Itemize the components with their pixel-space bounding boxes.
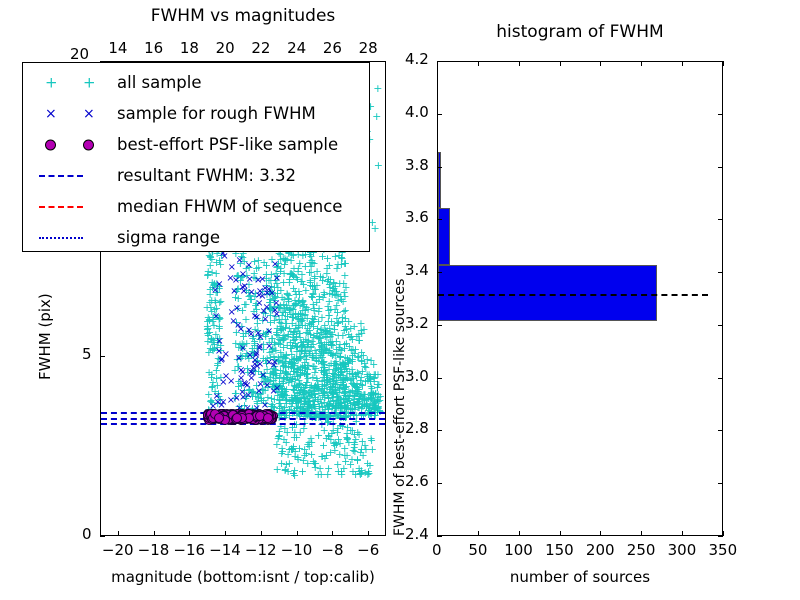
dashed-line-icon (39, 175, 83, 177)
histogram-bar (438, 152, 441, 209)
cross-marker-icon: × (45, 107, 57, 121)
axis-tick-label: 26 (323, 39, 342, 57)
axis-tick (437, 378, 442, 379)
all-sample-point: + (363, 354, 372, 365)
legend-label: median FHWM of sequence (117, 197, 342, 216)
legend-key (31, 191, 117, 222)
rough-sample-point: × (265, 342, 273, 352)
rough-sample-point: × (271, 260, 279, 270)
axis-tick-label: −20 (102, 541, 134, 559)
legend-label: all sample (117, 73, 202, 92)
axis-tick (718, 167, 723, 168)
all-sample-point: + (373, 83, 382, 94)
all-sample-point: + (310, 399, 319, 410)
axis-tick-label: −16 (173, 541, 205, 559)
right-y-axis-label: FWHM of best-effort PSF-like sources (392, 279, 408, 536)
legend-key (31, 222, 117, 253)
legend-label: best-effort PSF-like sample (117, 135, 338, 154)
rough-sample-point: × (240, 379, 248, 389)
axis-tick (682, 61, 683, 66)
axis-tick (560, 531, 561, 536)
axis-tick (297, 531, 298, 536)
axis-tick-label: 3.4 (405, 261, 429, 279)
axis-tick-label: 28 (359, 39, 378, 57)
axis-tick-label: 2.8 (405, 419, 429, 437)
all-sample-point: + (333, 318, 342, 329)
axis-tick (437, 272, 442, 273)
rough-sample-point: × (272, 310, 280, 320)
legend-label: sample for rough FWHM (117, 104, 316, 123)
all-sample-point: + (302, 302, 311, 313)
left-x-axis-label: magnitude (bottom:isnt / top:calib) (100, 568, 386, 586)
psf-sample-point (214, 413, 224, 423)
all-sample-point: + (340, 339, 349, 350)
all-sample-point: + (374, 160, 383, 171)
all-sample-point: + (298, 313, 307, 324)
axis-tick (723, 531, 724, 536)
axis-tick (437, 430, 442, 431)
histogram-median-line (438, 294, 708, 296)
rough-sample-point: × (239, 270, 247, 280)
axis-tick-label: 14 (108, 39, 127, 57)
axis-tick (519, 531, 520, 536)
axis-tick (718, 536, 723, 537)
rough-sample-point: × (252, 351, 260, 361)
all-sample-point: + (331, 281, 340, 292)
axis-tick (332, 531, 333, 536)
all-sample-point: + (339, 394, 348, 405)
dot-marker-icon (83, 139, 94, 150)
axis-tick-label: −8 (321, 541, 343, 559)
all-sample-point: + (252, 263, 261, 274)
axis-tick-label: 20 (216, 39, 235, 57)
all-sample-point: + (299, 339, 308, 350)
rough-sample-point: × (273, 274, 281, 284)
axis-tick-label: 4.2 (405, 50, 429, 68)
all-sample-point: + (340, 287, 349, 298)
axis-tick-label: 350 (709, 541, 738, 559)
all-sample-point: + (305, 441, 314, 452)
right-x-axis-label: number of sources (437, 568, 723, 586)
all-sample-point: + (314, 430, 323, 441)
all-sample-point: + (366, 388, 375, 399)
axis-tick-label: 24 (287, 39, 306, 57)
rough-sample-point: × (256, 380, 264, 390)
rough-sample-point: × (253, 313, 261, 323)
all-sample-point: + (318, 251, 327, 262)
axis-tick (478, 61, 479, 66)
rough-sample-point: × (263, 303, 271, 313)
all-sample-point: + (317, 340, 326, 351)
all-sample-point: + (372, 111, 381, 122)
rough-sample-point: × (215, 347, 223, 357)
plus-marker-icon: + (45, 75, 58, 90)
all-sample-point: + (341, 258, 350, 269)
all-sample-point: + (298, 466, 307, 477)
legend-item: ++all sample (31, 67, 369, 98)
axis-tick-label: 150 (545, 541, 574, 559)
axis-tick (718, 430, 723, 431)
legend-item: median FHWM of sequence (31, 191, 369, 222)
axis-tick-label: 100 (504, 541, 533, 559)
all-sample-point: + (367, 435, 376, 446)
rough-sample-point: × (263, 289, 271, 299)
rough-sample-point: × (256, 333, 264, 343)
rough-sample-point: × (265, 327, 273, 337)
axis-tick (600, 531, 601, 536)
axis-tick (437, 61, 442, 62)
axis-tick (718, 272, 723, 273)
legend-item: ××sample for rough FWHM (31, 98, 369, 129)
all-sample-point: + (304, 360, 313, 371)
figure-canvas: FWHM vs magnitudes 1416182022242628 −20−… (0, 0, 800, 600)
axis-tick-label: −10 (281, 541, 313, 559)
rough-sample-point: × (230, 287, 238, 297)
axis-tick (437, 536, 442, 537)
axis-tick-label: 3.2 (405, 314, 429, 332)
all-sample-point: + (241, 314, 250, 325)
all-sample-point: + (207, 369, 216, 380)
rough-sample-point: × (226, 274, 234, 284)
axis-tick (718, 483, 723, 484)
rough-sample-point: × (212, 312, 220, 322)
legend-key: ×× (31, 98, 117, 129)
rough-sample-point: × (215, 337, 223, 347)
all-sample-point: + (289, 270, 298, 281)
axis-tick (718, 114, 723, 115)
rough-sample-point: × (273, 384, 281, 394)
axis-tick-label: −6 (357, 541, 379, 559)
all-sample-point: + (285, 323, 294, 334)
rough-sample-point: × (235, 256, 243, 266)
all-sample-point: + (311, 458, 320, 469)
all-sample-point: + (320, 320, 329, 331)
left-panel-title: FWHM vs magnitudes (100, 6, 386, 26)
axis-tick-label: 2.4 (405, 525, 429, 543)
rough-sample-point: × (235, 354, 243, 364)
axis-tick-label: 22 (251, 39, 270, 57)
axis-tick (437, 114, 442, 115)
all-sample-point: + (281, 465, 290, 476)
all-sample-point: + (291, 286, 300, 297)
legend-item: sigma range (31, 222, 369, 253)
axis-tick-label: 2.6 (405, 472, 429, 490)
legend-label: sigma range (117, 228, 220, 247)
all-sample-point: + (346, 459, 355, 470)
axis-tick (437, 167, 442, 168)
axis-tick-label: 16 (144, 39, 163, 57)
left-y-axis-label: FWHM (pix) (36, 293, 54, 380)
legend-key: ++ (31, 67, 117, 98)
axis-tick (437, 219, 442, 220)
legend-item: best-effort PSF-like sample (31, 129, 369, 160)
axis-tick-label: 3.0 (405, 367, 429, 385)
axis-tick-label: 18 (180, 39, 199, 57)
axis-tick-label: 5 (82, 345, 92, 363)
rough-sample-point: × (228, 308, 236, 318)
all-sample-point: + (357, 325, 366, 336)
all-sample-point: + (317, 376, 326, 387)
all-sample-point: + (288, 354, 297, 365)
axis-tick (100, 536, 105, 537)
all-sample-point: + (309, 321, 318, 332)
legend-item: resultant FWHM: 3.32 (31, 160, 369, 191)
all-sample-point: + (343, 434, 352, 445)
rough-sample-point: × (256, 360, 264, 370)
axis-tick-label: 250 (627, 541, 656, 559)
axis-tick-label: 50 (468, 541, 487, 559)
axis-tick (225, 531, 226, 536)
axis-tick-label: 4.0 (405, 103, 429, 121)
axis-tick (600, 61, 601, 66)
cross-marker-icon: × (83, 107, 95, 121)
histogram-axes[interactable] (437, 61, 723, 536)
axis-tick (682, 531, 683, 536)
all-sample-point: + (364, 468, 373, 479)
axis-tick-label: 3.6 (405, 208, 429, 226)
axis-tick-label: 3.8 (405, 156, 429, 174)
axis-tick (100, 356, 105, 357)
all-sample-point: + (301, 261, 310, 272)
all-sample-point: + (315, 294, 324, 305)
all-sample-point: + (342, 372, 351, 383)
all-sample-point: + (295, 443, 304, 454)
rough-sample-point: × (258, 275, 266, 285)
legend: ++all sample××sample for rough FWHMbest-… (22, 62, 370, 252)
legend-key (31, 129, 117, 160)
rough-sample-point: × (234, 321, 242, 331)
dashdot-line-icon (39, 237, 83, 239)
all-sample-point: + (308, 281, 317, 292)
axis-tick-label: −14 (209, 541, 241, 559)
rough-sample-point: × (248, 369, 256, 379)
axis-tick (641, 61, 642, 66)
axis-tick-label: 200 (586, 541, 615, 559)
all-sample-point: + (281, 307, 290, 318)
legend-label: resultant FWHM: 3.32 (117, 166, 296, 185)
axis-tick (189, 531, 190, 536)
all-sample-point: + (323, 263, 332, 274)
axis-tick (154, 531, 155, 536)
rough-sample-point: × (261, 315, 269, 325)
rough-sample-point: × (239, 344, 247, 354)
axis-tick (478, 531, 479, 536)
right-panel-title: histogram of FWHM (437, 22, 723, 42)
dot-marker-icon (45, 139, 56, 150)
all-sample-point: + (353, 388, 362, 399)
rough-sample-point: × (228, 263, 236, 273)
axis-tick (718, 325, 723, 326)
axis-tick (437, 483, 442, 484)
axis-tick (723, 61, 724, 66)
all-sample-point: + (272, 439, 281, 450)
axis-tick (118, 531, 119, 536)
axis-tick (718, 219, 723, 220)
plus-marker-icon: + (83, 75, 96, 90)
dashed-line-icon (39, 206, 83, 208)
histogram-plot-area (438, 62, 722, 535)
axis-tick (718, 61, 723, 62)
all-sample-point: + (341, 305, 350, 316)
rough-sample-point: × (245, 326, 253, 336)
axis-tick (560, 61, 561, 66)
histogram-bar (438, 265, 657, 320)
axis-tick-label: −12 (245, 541, 277, 559)
all-sample-point: + (293, 394, 302, 405)
axis-tick (437, 325, 442, 326)
axis-tick (261, 531, 262, 536)
all-sample-point: + (327, 339, 336, 350)
axis-tick-label: −18 (138, 541, 170, 559)
rough-sample-point: × (239, 393, 247, 403)
all-sample-point: + (334, 363, 343, 374)
axis-tick-label: 300 (668, 541, 697, 559)
axis-tick-label: 0 (82, 525, 92, 543)
axis-tick (718, 378, 723, 379)
axis-tick (519, 61, 520, 66)
axis-tick-label: 0 (432, 541, 442, 559)
all-sample-point: + (326, 447, 335, 458)
histogram-bar (438, 208, 450, 265)
all-sample-point: + (291, 298, 300, 309)
axis-tick (368, 531, 369, 536)
rough-sample-point: × (219, 378, 227, 388)
rough-sample-point: × (215, 280, 223, 290)
psf-sample-point (232, 413, 242, 423)
legend-key (31, 160, 117, 191)
axis-tick (641, 531, 642, 536)
rough-sample-point: × (270, 361, 278, 371)
left-ytop-label: 20 (70, 45, 89, 63)
